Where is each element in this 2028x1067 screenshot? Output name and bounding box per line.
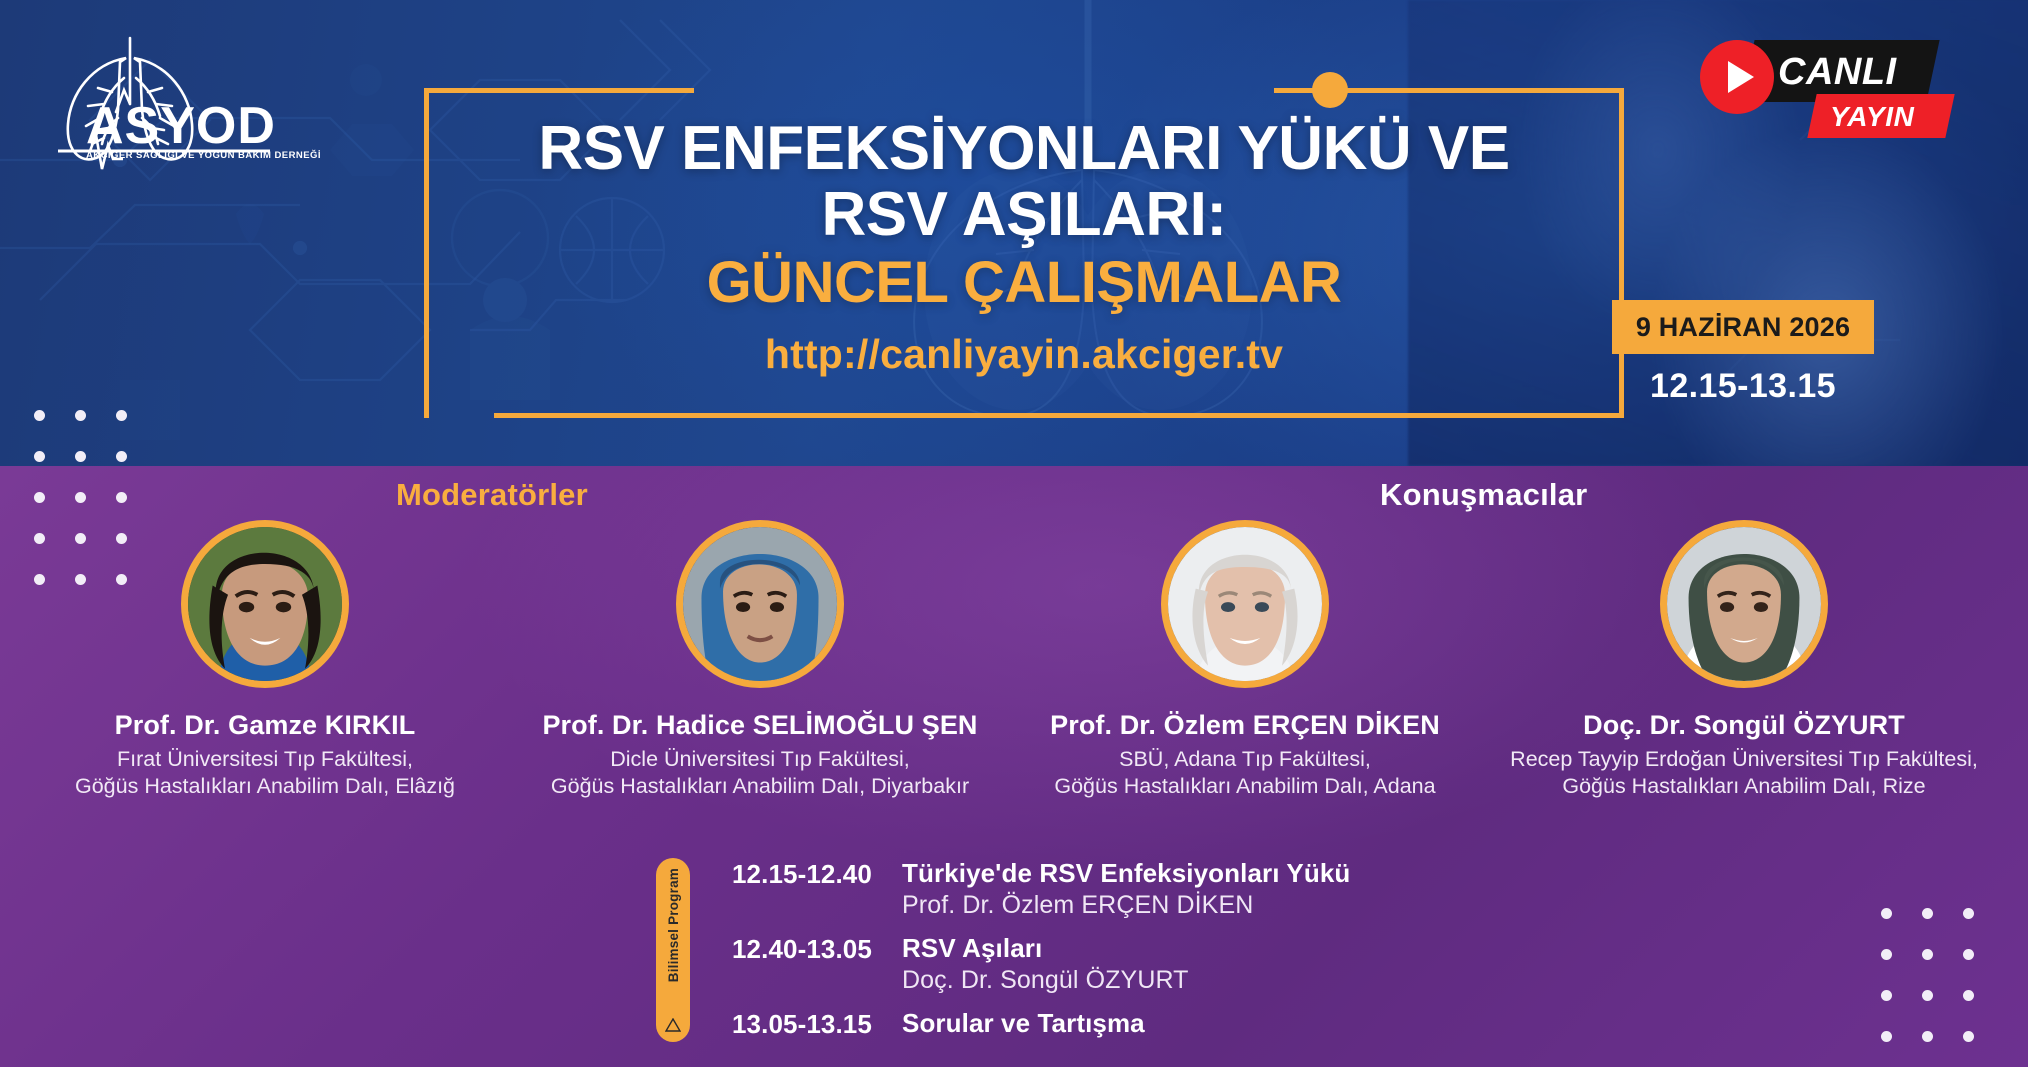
- person-affiliation-line-2: Göğüs Hastalıkları Anabilim Dalı, Adana: [1010, 773, 1480, 800]
- date-time-badge: 9 HAZİRAN 2026 12.15-13.15: [1612, 300, 1874, 418]
- avatar: [676, 520, 844, 688]
- title-line-2: RSV AŞILARI:: [821, 182, 1226, 248]
- broadcast-url[interactable]: http://canliyayin.akciger.tv: [765, 331, 1283, 378]
- portrait-photo: [188, 527, 342, 681]
- title-line-1: RSV ENFEKSİYONLARI YÜKÜ VE: [538, 116, 1509, 182]
- person-affiliation-line-1: Fırat Üniversitesi Tıp Fakültesi,: [10, 746, 520, 773]
- program-time: 13.05-13.15: [732, 1008, 902, 1040]
- webinar-poster: ASYOD AKCİĞER SAĞLIĞI VE YOĞUN BAKIM DER…: [0, 0, 2028, 1067]
- person-affiliation-line-1: Dicle Üniversitesi Tıp Fakültesi,: [500, 746, 1020, 773]
- avatar: [181, 520, 349, 688]
- program-row: 13.05-13.15 Sorular ve Tartışma: [732, 1008, 1552, 1040]
- program-time: 12.40-13.05: [732, 933, 902, 995]
- person-name: Prof. Dr. Gamze KIRKIL: [10, 710, 520, 741]
- person-affiliation-line-1: SBÜ, Adana Tıp Fakültesi,: [1010, 746, 1480, 773]
- people-row: Prof. Dr. Gamze KIRKIL Fırat Üniversites…: [0, 520, 2028, 830]
- program-topic: RSV Aşıları: [902, 933, 1552, 964]
- program-row: 12.40-13.05 RSV Aşıları Doç. Dr. Songül …: [732, 933, 1552, 995]
- portrait-photo: [1667, 527, 1821, 681]
- program-speaker: Doç. Dr. Songül ÖZYURT: [902, 966, 1552, 995]
- title-line-3: GÜNCEL ÇALIŞMALAR: [707, 249, 1342, 317]
- event-date: 9 HAZİRAN 2026: [1612, 300, 1874, 354]
- person-name: Prof. Dr. Özlem ERÇEN DİKEN: [1010, 710, 1480, 741]
- avatar: [1161, 520, 1329, 688]
- portrait-photo: [1168, 527, 1322, 681]
- play-icon[interactable]: [1700, 40, 1774, 114]
- program-topic: Sorular ve Tartışma: [902, 1008, 1552, 1039]
- person-name: Doç. Dr. Songül ÖZYURT: [1470, 710, 2018, 741]
- program-speaker: Prof. Dr. Özlem ERÇEN DİKEN: [902, 891, 1552, 920]
- program-time: 12.15-12.40: [732, 858, 902, 920]
- triangle-icon: [665, 1018, 681, 1032]
- live-label-yayin: YAYIN: [1830, 98, 1950, 136]
- person-card-2: Prof. Dr. Özlem ERÇEN DİKEN SBÜ, Adana T…: [1010, 520, 1480, 801]
- portrait-photo: [683, 527, 837, 681]
- program-tab: Bilimsel Program: [656, 858, 690, 1042]
- program-topic: Türkiye'de RSV Enfeksiyonları Yükü: [902, 858, 1552, 889]
- moderators-heading: Moderatörler: [396, 477, 588, 513]
- svg-text:ASYOD: ASYOD: [86, 97, 276, 155]
- person-affiliation-line-2: Göğüs Hastalıkları Anabilim Dalı, Rize: [1470, 773, 2018, 800]
- person-name: Prof. Dr. Hadice SELİMOĞLU ŞEN: [500, 710, 1020, 741]
- speakers-heading: Konuşmacılar: [1380, 477, 1587, 513]
- person-affiliation-line-2: Göğüs Hastalıkları Anabilim Dalı, Elâzığ: [10, 773, 520, 800]
- dot-grid-right-decoration: [1881, 908, 1974, 1067]
- title-block: RSV ENFEKSİYONLARI YÜKÜ VE RSV AŞILARI: …: [424, 96, 1624, 416]
- program-rows: 12.15-12.40 Türkiye'de RSV Enfeksiyonlar…: [732, 858, 1552, 1053]
- person-card-3: Doç. Dr. Songül ÖZYURT Recep Tayyip Erdo…: [1470, 520, 2018, 801]
- banner-header: ASYOD AKCİĞER SAĞLIĞI VE YOĞUN BAKIM DER…: [0, 0, 2028, 466]
- person-affiliation-line-2: Göğüs Hastalıkları Anabilim Dalı, Diyarb…: [500, 773, 1020, 800]
- event-time: 12.15-13.15: [1612, 354, 1874, 418]
- person-affiliation-line-1: Recep Tayyip Erdoğan Üniversitesi Tıp Fa…: [1470, 746, 2018, 773]
- live-broadcast-badge[interactable]: CANLI YAYIN: [1700, 34, 1950, 144]
- organization-subtitle: AKCİĞER SAĞLIĞI VE YOĞUN BAKIM DERNEĞİ: [86, 150, 296, 161]
- live-label-canli: CANLI: [1778, 48, 1938, 96]
- person-card-1: Prof. Dr. Hadice SELİMOĞLU ŞEN Dicle Üni…: [500, 520, 1020, 801]
- scientific-program: Bilimsel Program 12.15-12.40 Türkiye'de …: [656, 858, 1556, 1053]
- person-card-0: Prof. Dr. Gamze KIRKIL Fırat Üniversites…: [10, 520, 520, 801]
- program-row: 12.15-12.40 Türkiye'de RSV Enfeksiyonlar…: [732, 858, 1552, 920]
- program-tab-label: Bilimsel Program: [666, 868, 681, 982]
- avatar: [1660, 520, 1828, 688]
